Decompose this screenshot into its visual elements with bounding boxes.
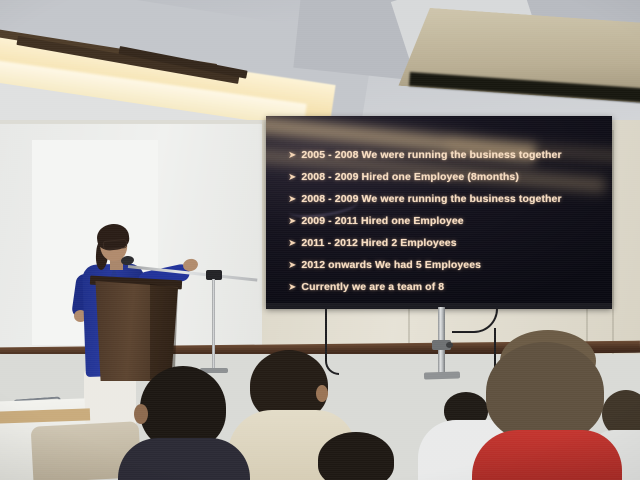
audience-ear [316,385,328,402]
slide-bullet-list: ➤ 2005 - 2008 We were running the busine… [288,144,602,298]
slide-bullet-row: ➤ 2005 - 2008 We were running the busine… [288,144,602,166]
microphone-stand-pole [212,279,215,371]
slide-bullet-text: 2012 onwards We had 5 Employees [301,254,481,276]
arrow-bullet-icon: ➤ [288,233,296,255]
audience-head [486,342,604,442]
slide-bullet-text: 2005 - 2008 We were running the business… [301,144,561,166]
display-stand-foot [424,371,460,379]
slide-bullet-row: ➤ 2009 - 2011 Hired one Employee [288,210,602,232]
presentation-display: ➤ 2005 - 2008 We were running the busine… [266,116,612,308]
arrow-bullet-icon: ➤ [288,145,296,167]
slide-bullet-text: 2008 - 2009 We were running the business… [301,188,561,210]
audience-head [318,432,394,480]
ceiling [0,0,640,132]
audience-body [472,430,622,480]
display-stand-knob [446,342,453,348]
wall-seam [612,130,614,360]
slide-bullet-row: ➤ 2008 - 2009 Hired one Employee (8month… [288,166,602,188]
arrow-bullet-icon: ➤ [288,211,296,233]
slide-bullet-text: 2011 - 2012 Hired 2 Employees [301,232,456,254]
slide-bullet-row: ➤ 2011 - 2012 Hired 2 Employees [288,232,602,254]
slide-bullet-row: ➤ 2012 onwards We had 5 Employees [288,254,602,276]
arrow-bullet-icon: ➤ [288,167,296,189]
power-cable [325,309,339,375]
audience-ear [134,404,148,424]
slide-bullet-text: 2009 - 2011 Hired one Employee [301,210,463,232]
arrow-bullet-icon: ➤ [288,189,296,211]
presentation-photo-scene: ➤ 2005 - 2008 We were running the busine… [0,0,640,480]
slide-bullet-text: 2008 - 2009 Hired one Employee (8months) [301,166,519,188]
slide-bullet-row: ➤ Currently we are a team of 8 [288,276,602,298]
arrow-bullet-icon: ➤ [288,255,296,277]
slide-bullet-text: Currently we are a team of 8 [301,276,444,298]
arrow-bullet-icon: ➤ [288,277,296,299]
podium-shadow-side [150,284,178,379]
slide-bullet-row: ➤ 2008 - 2009 We were running the busine… [288,188,602,210]
audience-body [118,438,250,480]
slide-screen: ➤ 2005 - 2008 We were running the busine… [266,116,612,308]
